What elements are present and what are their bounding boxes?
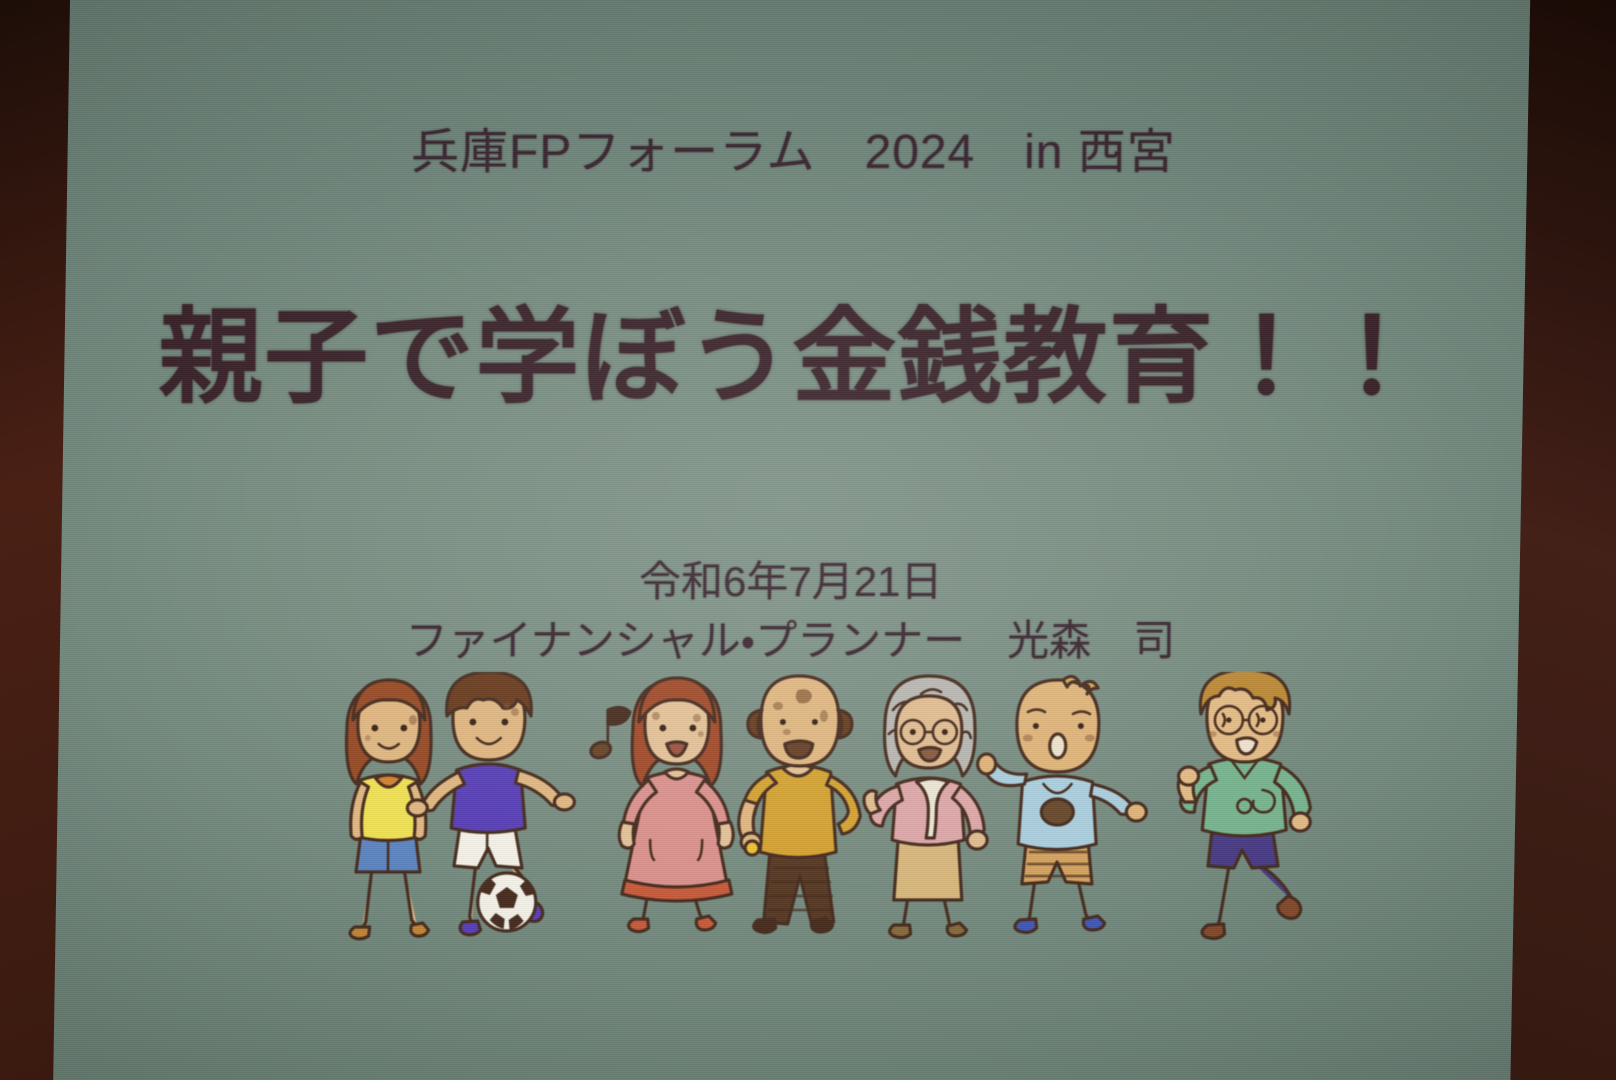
event-header-text: 兵庫FPフォーラム 2024 in 西宮 [54, 112, 1532, 182]
photograph-of-projected-slide: 兵庫FPフォーラム 2024 in 西宮 親子で学ぼう金銭教育！！ 令和6年7月… [0, 0, 1616, 1080]
soccer-ball [478, 873, 536, 931]
figure-boy-lightblue-shirt [977, 676, 1148, 932]
slide-content: 兵庫FPフォーラム 2024 in 西宮 親子で学ぼう金銭教育！！ 令和6年7月… [49, 0, 1534, 1080]
figure-man-mustard-shirt [738, 676, 861, 932]
figure-man-glasses-green-shirt [1177, 672, 1311, 938]
figure-woman-pink-dress [619, 678, 735, 932]
projection-screen: 兵庫FPフォーラム 2024 in 西宮 親子で学ぼう金銭教育！！ 令和6年7月… [49, 0, 1534, 1080]
illustration-family-characters: .ol { stroke:#4a2d1e; stroke-width:3.2; … [300, 672, 1332, 942]
slide-main-title: 親子で学ぼう金銭教育！！ [53, 272, 1532, 423]
presenter-name-line: ファイナンシャル・プランナー 光森 司 [51, 607, 1529, 668]
presentation-date: 令和6年7月21日 [52, 548, 1530, 609]
music-note-icon [589, 707, 630, 760]
figure-elderly-woman-glasses [863, 676, 988, 938]
illustration-svg: .ol { stroke:#4a2d1e; stroke-width:3.2; … [300, 672, 1332, 942]
figure-boy-soccer-purple [407, 672, 576, 935]
